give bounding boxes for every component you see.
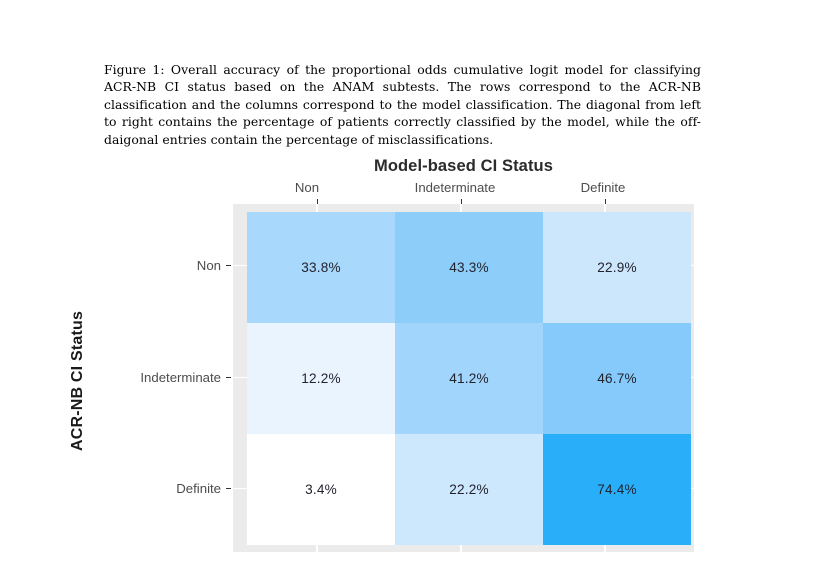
figure-caption-text: Overall accuracy of the proportional odd…: [104, 62, 701, 147]
column-label-definite: Definite: [529, 180, 677, 195]
heatmap-cell[interactable]: 41.2%: [395, 323, 543, 434]
chart-title: Model-based CI Status: [233, 157, 694, 176]
heatmap-cell-grid: 33.8% 43.3% 22.9% 12.2% 41.2% 46.7% 3.4%…: [247, 212, 691, 545]
row-label-definite: Definite: [16, 481, 221, 496]
heatmap-cell[interactable]: 33.8%: [247, 212, 395, 323]
heatmap-cell[interactable]: 43.3%: [395, 212, 543, 323]
figure-heatmap: Model-based CI Status Non Indeterminate …: [0, 150, 839, 569]
heatmap-cell[interactable]: 22.2%: [395, 434, 543, 545]
heatmap-cell-value: 74.4%: [597, 482, 637, 497]
heatmap-cell-value: 22.2%: [449, 482, 489, 497]
heatmap-cell-value: 12.2%: [301, 371, 341, 386]
heatmap-cell-value: 46.7%: [597, 371, 637, 386]
row-tick-non: [226, 265, 231, 266]
column-label-indeterminate: Indeterminate: [381, 180, 529, 195]
heatmap-cell-value: 43.3%: [449, 260, 489, 275]
heatmap-cell[interactable]: 3.4%: [247, 434, 395, 545]
figure-caption: Figure 1: Overall accuracy of the propor…: [104, 61, 701, 148]
row-label-indeterminate: Indeterminate: [16, 370, 221, 385]
heatmap-cell[interactable]: 12.2%: [247, 323, 395, 434]
row-tick-definite: [226, 488, 231, 489]
heatmap-cell[interactable]: 74.4%: [543, 434, 691, 545]
row-tick-indeterminate: [226, 377, 231, 378]
heatmap-cell-value: 22.9%: [597, 260, 637, 275]
row-label-non: Non: [16, 258, 221, 273]
heatmap-cell[interactable]: 22.9%: [543, 212, 691, 323]
heatmap-cell-value: 3.4%: [305, 482, 337, 497]
column-label-non: Non: [233, 180, 381, 195]
heatmap-cell[interactable]: 46.7%: [543, 323, 691, 434]
figure-caption-label: Figure 1:: [104, 62, 165, 77]
chart-panel: 33.8% 43.3% 22.9% 12.2% 41.2% 46.7% 3.4%…: [233, 204, 694, 552]
heatmap-cell-value: 33.8%: [301, 260, 341, 275]
heatmap-cell-value: 41.2%: [449, 371, 489, 386]
